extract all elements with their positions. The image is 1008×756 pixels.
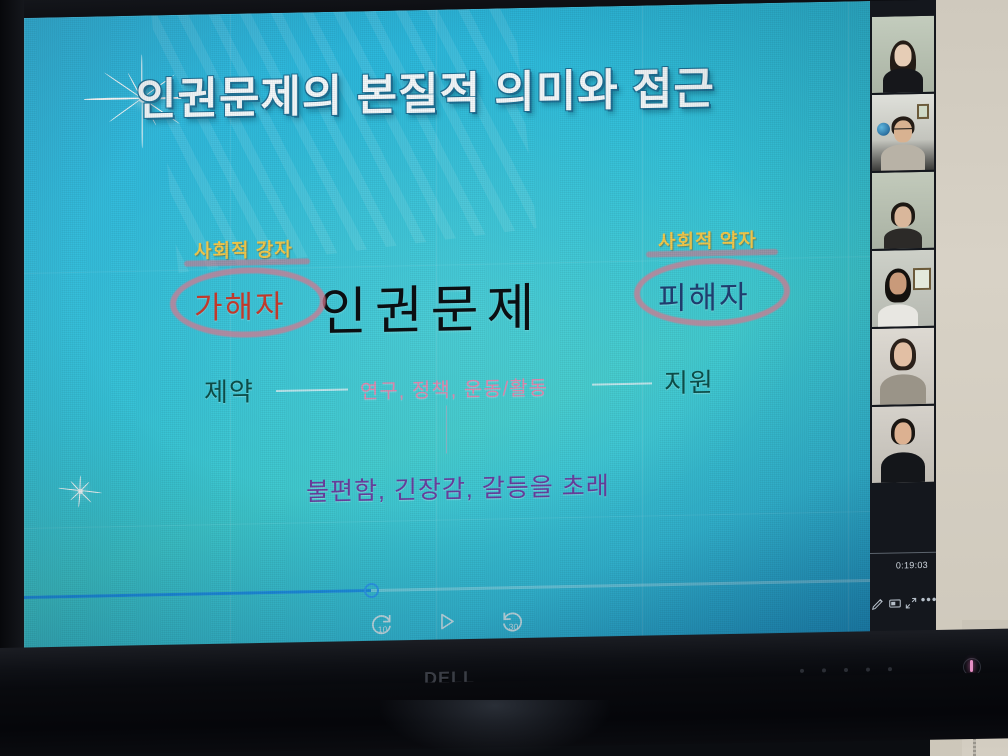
annotate-pencil-icon[interactable]	[871, 597, 885, 611]
participant-tile[interactable]	[872, 406, 934, 483]
monitor-body: 인권문제의 본질적 의미와 접근 사회적 강자 가해자 인권문제 사회적 약자 …	[0, 0, 936, 700]
panel-divider	[870, 552, 936, 554]
bezel-left	[0, 0, 24, 700]
presentation-slide: 인권문제의 본질적 의미와 접근 사회적 강자 가해자 인권문제 사회적 약자 …	[24, 1, 870, 650]
flow-right-label: 지원	[664, 362, 714, 400]
seek-bar-progress	[24, 589, 371, 599]
center-term: 인권문제	[319, 266, 542, 345]
slide-ray-decor	[151, 1, 536, 273]
participant-tile[interactable]	[872, 250, 934, 327]
power-led-icon	[970, 660, 973, 672]
participant-tile[interactable]	[872, 328, 934, 405]
monitor-screen: 인권문제의 본질적 의미와 접근 사회적 강자 가해자 인권문제 사회적 약자 …	[24, 0, 936, 650]
osd-button[interactable]	[844, 668, 848, 672]
participant-tile[interactable]	[872, 16, 934, 93]
play-icon[interactable]	[434, 609, 460, 636]
collapse-arrows-icon[interactable]	[904, 596, 918, 610]
participant-tile[interactable]	[872, 94, 934, 171]
svg-text:30: 30	[509, 622, 519, 632]
sparkle-decor-small-icon	[54, 464, 106, 517]
osd-button[interactable]	[866, 668, 870, 672]
panel-toolbar: •••	[870, 588, 936, 619]
forward-30-icon[interactable]: 30	[500, 608, 526, 635]
slide-title: 인권문제의 본질적 의미와 접근	[136, 52, 715, 128]
consequence-text: 불편함, 긴장감, 갈등을 초래	[306, 466, 610, 508]
headphone-reflection	[380, 700, 610, 756]
flow-right-connector	[592, 382, 652, 385]
seek-bar-handle[interactable]	[364, 583, 379, 598]
left-group-actor: 가해자	[194, 281, 286, 328]
osd-button[interactable]	[822, 668, 826, 672]
participant-panel: 0:19:03	[870, 0, 936, 633]
svg-text:10: 10	[378, 624, 388, 634]
flow-left-label: 제약	[204, 371, 254, 409]
participant-tile[interactable]	[872, 172, 934, 249]
osd-button[interactable]	[888, 667, 892, 671]
osd-button[interactable]	[800, 669, 804, 673]
flow-middle-label: 연구, 정책, 운동/활동	[360, 371, 548, 404]
more-options-icon[interactable]: •••	[921, 596, 935, 610]
view-layout-icon[interactable]	[888, 596, 902, 610]
flow-left-connector	[276, 388, 348, 391]
left-group-label: 사회적 강자	[194, 235, 293, 264]
monitor-photograph: 인권문제의 본질적 의미와 접근 사회적 강자 가해자 인권문제 사회적 약자 …	[0, 0, 1008, 756]
rewind-10-icon[interactable]: 10	[368, 611, 394, 638]
elapsed-timer: 0:19:03	[896, 560, 928, 571]
flow-row: 제약 연구, 정책, 운동/활동 지원	[24, 359, 870, 416]
right-group-actor: 피해자	[658, 271, 750, 318]
right-group-label: 사회적 약자	[658, 225, 757, 254]
flow-vertical-connector	[446, 406, 447, 454]
